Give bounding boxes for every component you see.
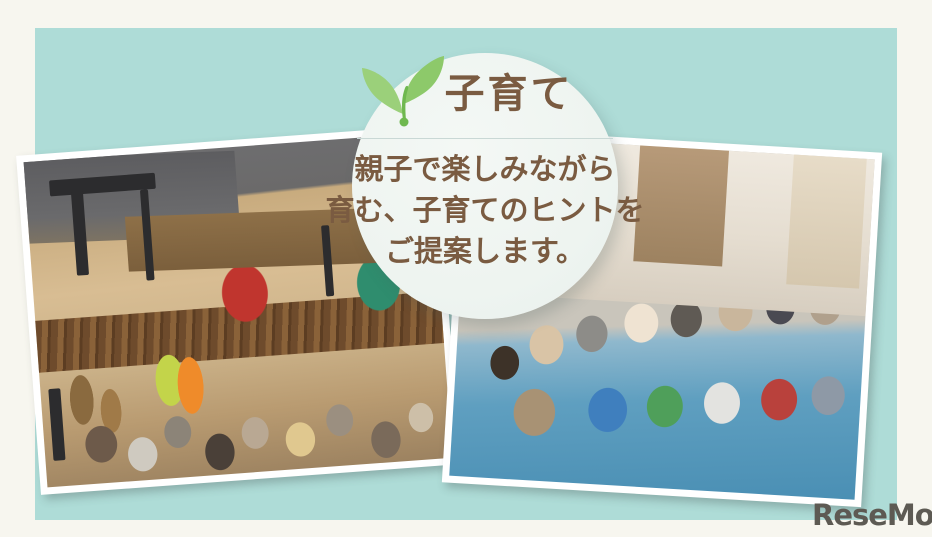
page-title: 子育て <box>352 74 618 114</box>
subtitle-line-1: 親子で楽しみながら <box>285 150 685 191</box>
subtitle-line-2: 育む、子育てのヒントを <box>285 191 685 232</box>
logo-wordmark: ReseMom <box>812 501 932 530</box>
curtain-icon <box>786 155 867 289</box>
subtitle-line-3: ご提案します。 <box>285 232 685 273</box>
headline-divider <box>357 138 613 139</box>
chair-icon <box>48 388 65 460</box>
resemom-logo[interactable]: ReseMom . リセマム <box>812 498 932 530</box>
subtitle-block: 親子で楽しみながら 育む、子育てのヒントを ご提案します。 <box>285 150 685 274</box>
kosodate-banner: 音楽ワークショップ マリンバ演奏と子どもたち 親子でリズム遊び 体育館のマットに… <box>0 0 932 537</box>
